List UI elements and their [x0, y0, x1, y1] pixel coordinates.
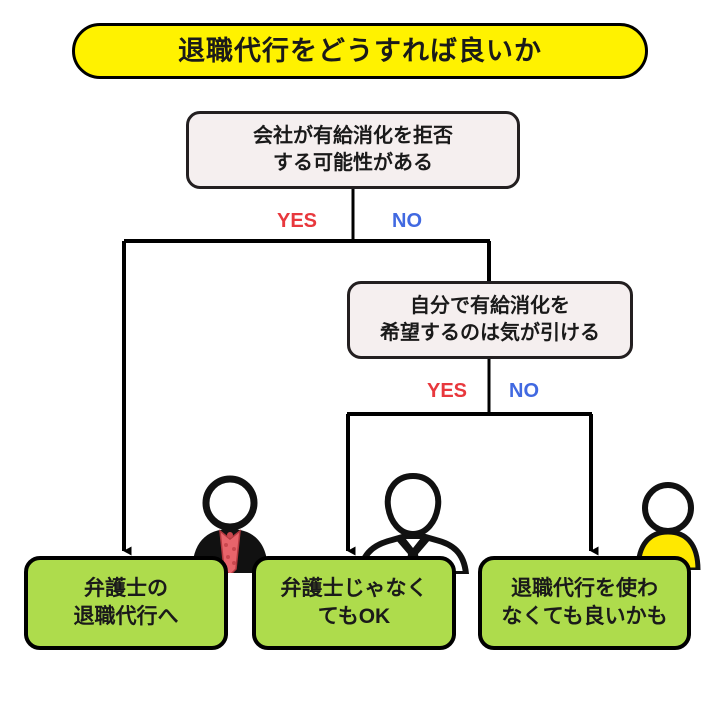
edge-label-yes-2: YES	[427, 381, 467, 401]
edge-label-no-2: NO	[509, 381, 539, 401]
result-1-line-1: 弁護士の	[84, 575, 168, 603]
decision-box-paid-leave-refusal[interactable]: 会社が有給消化を拒否 する可能性がある	[186, 111, 520, 189]
result-1-line-2: 退職代行へ	[74, 603, 179, 631]
edge-label-yes-1: YES	[277, 211, 317, 231]
result-box-non-lawyer-ok[interactable]: 弁護士じゃなく てもOK	[252, 556, 456, 650]
result-box-lawyer-resignation-service[interactable]: 弁護士の 退職代行へ	[24, 556, 228, 650]
result-box-no-service-needed[interactable]: 退職代行を使わ なくても良いかも	[478, 556, 691, 650]
decision-2-line-1: 自分で有給消化を	[410, 293, 570, 320]
edge-label-no-1: NO	[392, 211, 422, 231]
decision-1-line-2: する可能性がある	[273, 150, 433, 177]
decision-1-line-1: 会社が有給消化を拒否	[253, 123, 453, 150]
result-3-line-2: なくても良いかも	[501, 603, 667, 631]
result-3-line-1: 退職代行を使わ	[511, 575, 658, 603]
flowchart-canvas: 退職代行をどうすれば良いか 会社が有給消化を拒否 する可能性がある 自分で有給消…	[0, 0, 720, 720]
chart-title-banner: 退職代行をどうすれば良いか	[72, 23, 648, 79]
result-2-line-2: てもOK	[318, 603, 390, 631]
decision-2-line-2: 希望するのは気が引ける	[380, 320, 600, 347]
page-title: 退職代行をどうすれば良いか	[178, 38, 542, 65]
result-2-line-1: 弁護士じゃなく	[281, 575, 428, 603]
decision-box-self-request-hesitation[interactable]: 自分で有給消化を 希望するのは気が引ける	[347, 281, 633, 359]
